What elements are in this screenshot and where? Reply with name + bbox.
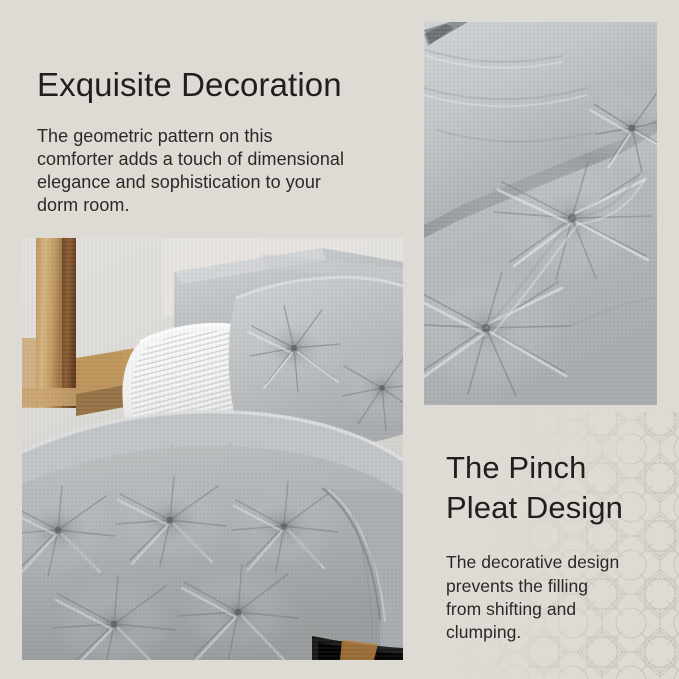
pinch-pleat-heading: The Pinch Pleat Design (446, 448, 672, 527)
pinch-pleat-text-block: The Pinch Pleat Design The decorative de… (446, 448, 672, 644)
pinch-pleat-detail-photo (424, 22, 657, 405)
exquisite-decoration-body: The geometric pattern on this comforter … (37, 125, 407, 216)
product-feature-poster: Exquisite Decoration The geometric patte… (0, 0, 679, 679)
bedroom-scene-photo (22, 238, 403, 660)
exquisite-decoration-heading: Exquisite Decoration (37, 66, 407, 105)
exquisite-decoration-text-block: Exquisite Decoration The geometric patte… (37, 66, 407, 216)
pinch-pleat-body: The decorative design prevents the filli… (446, 551, 672, 644)
